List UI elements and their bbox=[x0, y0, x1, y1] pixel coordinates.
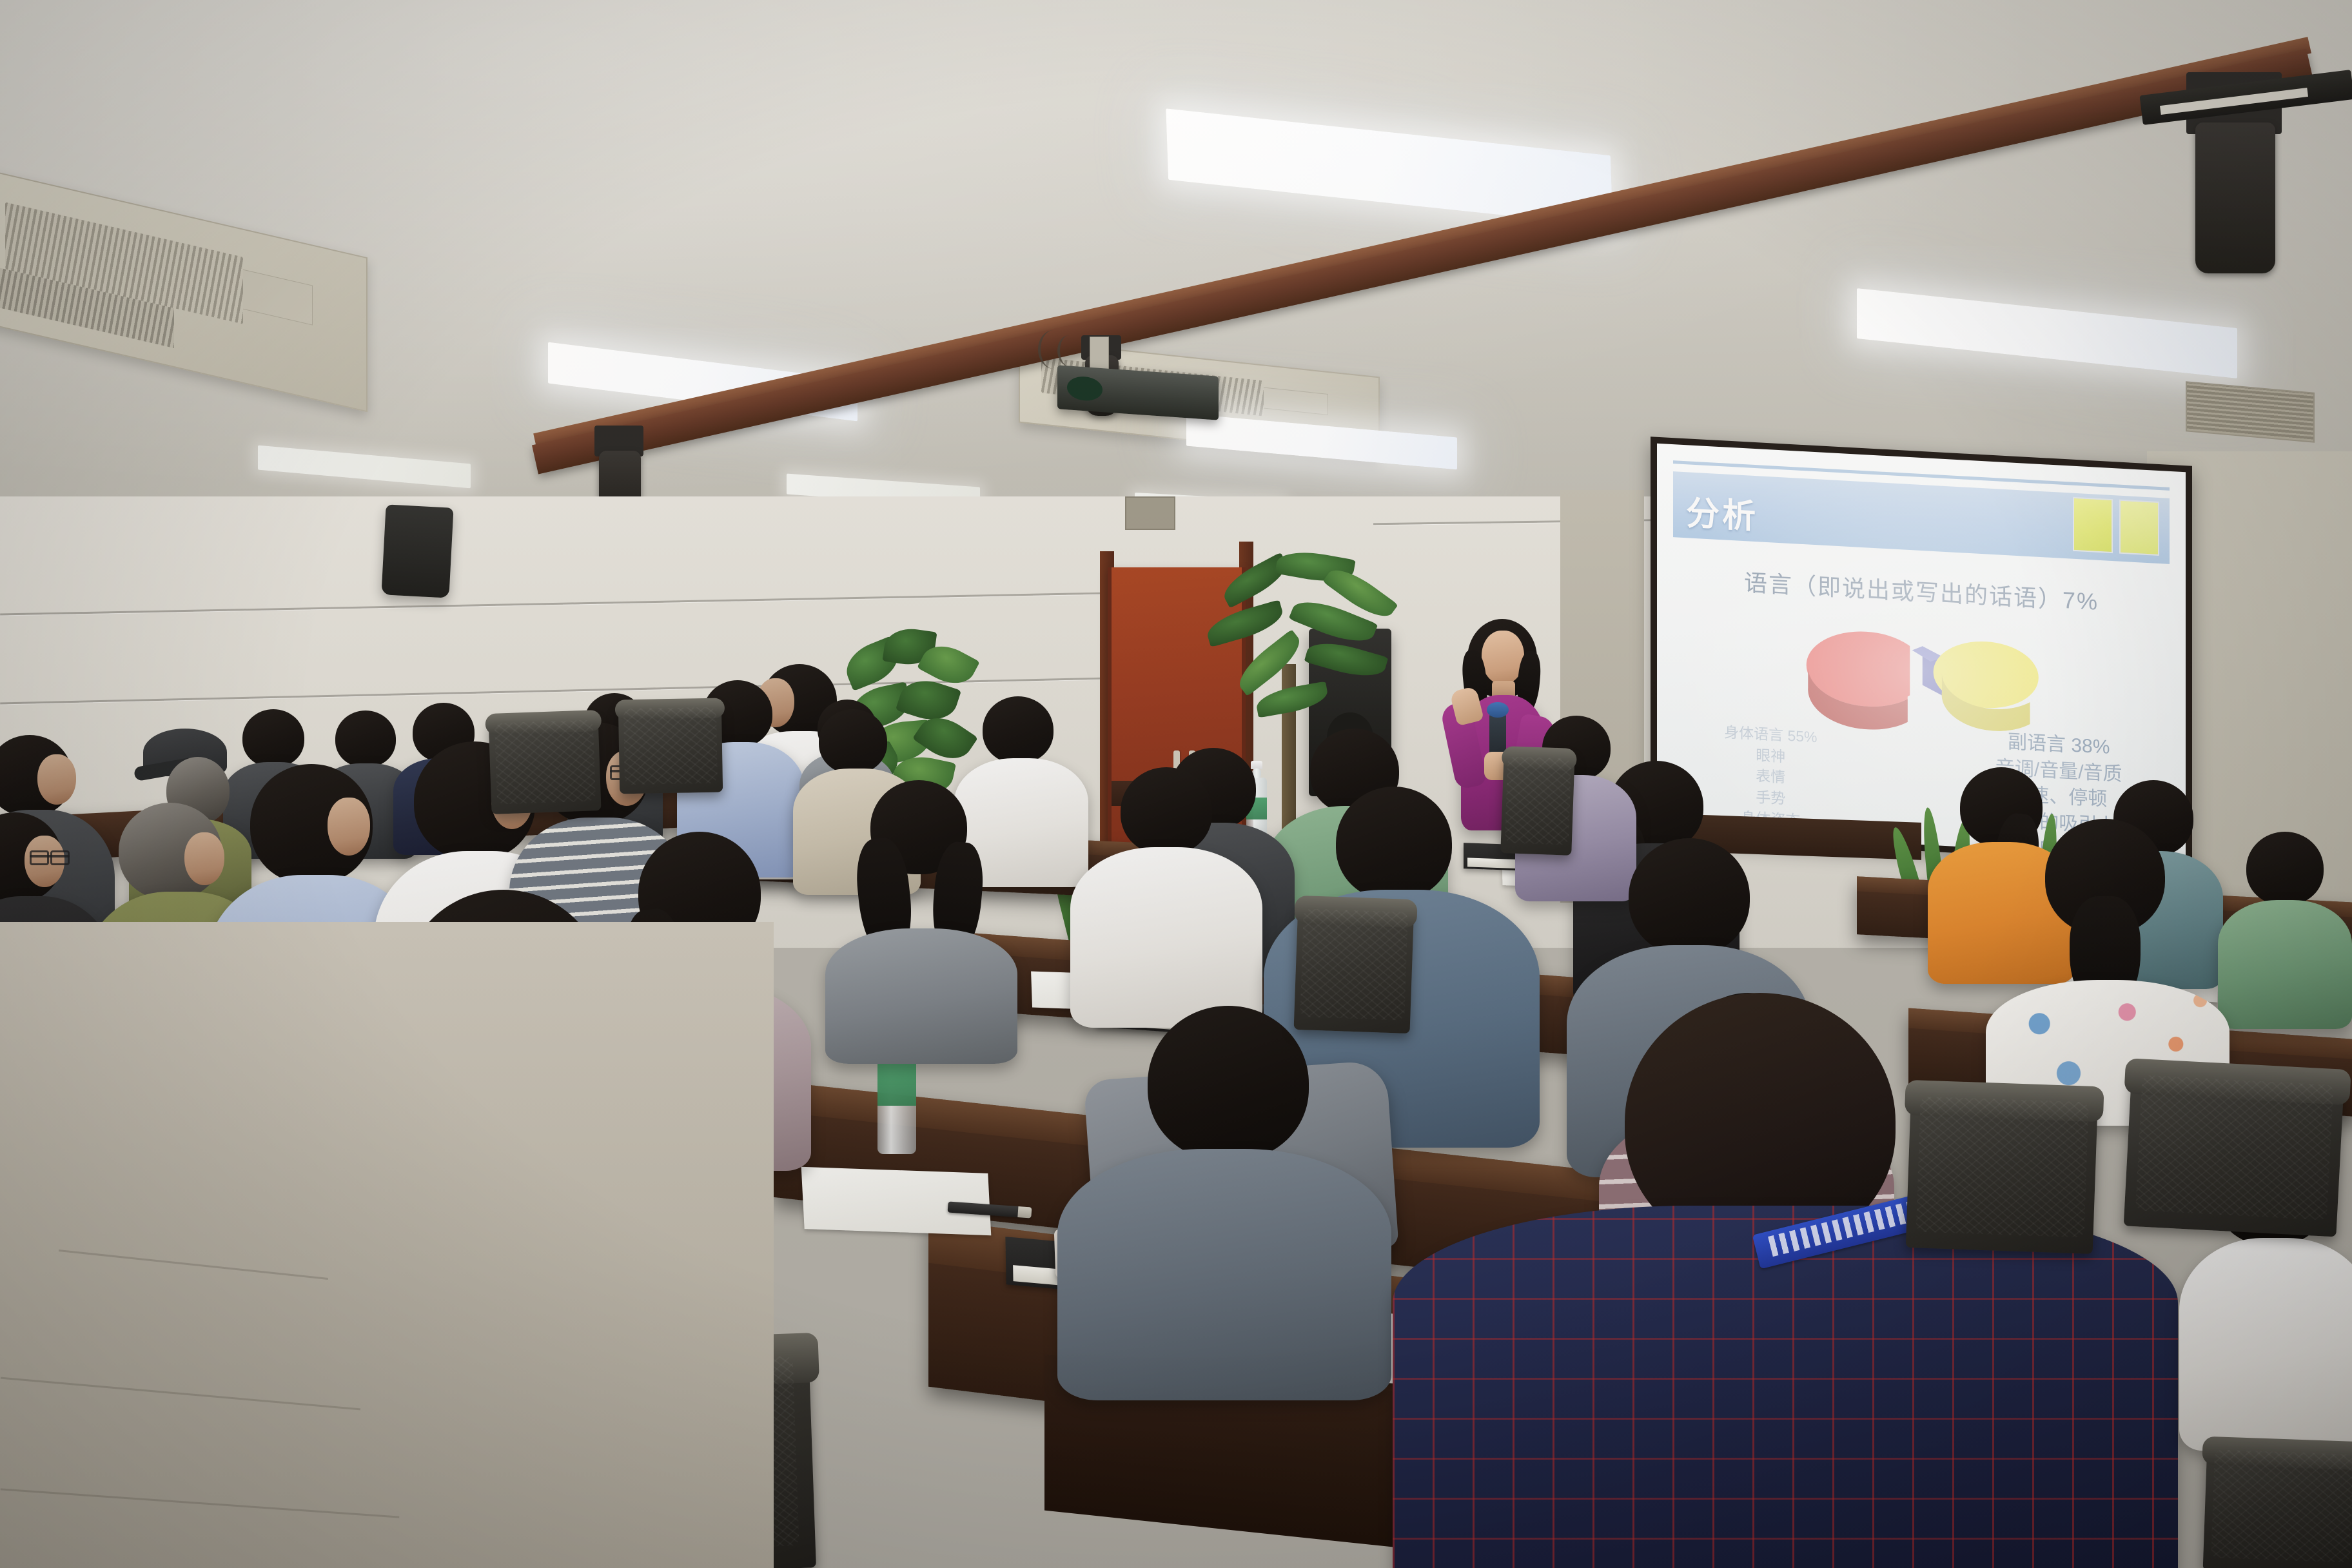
audience-front-navy bbox=[1057, 1006, 1393, 1393]
slide-thumbnail-1 bbox=[2073, 497, 2113, 553]
chair-right-3[interactable] bbox=[2124, 1065, 2345, 1237]
glasses-icon bbox=[30, 855, 70, 857]
meeting-room-photo: 分析 语言（即说出或写出的话语）7% bbox=[0, 0, 2352, 1568]
chair-right-2[interactable] bbox=[1906, 1086, 2099, 1254]
audience-foreground-plaid bbox=[1393, 993, 2179, 1568]
chair-mid-left-2[interactable] bbox=[618, 702, 723, 794]
chair-right-1[interactable] bbox=[1294, 901, 1415, 1034]
audience-long-hair-grey bbox=[825, 780, 1019, 1051]
floor bbox=[0, 922, 774, 1568]
chair-presenter-side[interactable] bbox=[1500, 750, 1575, 856]
slide-thumbnail-2 bbox=[2119, 500, 2159, 556]
slide-thumbnail-group bbox=[2073, 497, 2159, 556]
audience-white-tee bbox=[1070, 767, 1264, 1025]
slide-title: 分析 bbox=[1686, 485, 1758, 538]
chair-right-4[interactable] bbox=[2203, 1442, 2352, 1568]
audience-far-right-green bbox=[2218, 832, 2352, 1025]
wall-vent-small bbox=[1125, 496, 1175, 530]
paper-front-left[interactable] bbox=[801, 1167, 992, 1235]
chair-mid-left[interactable] bbox=[488, 714, 601, 814]
projector-cable-2 bbox=[1057, 335, 1081, 366]
microphone-head bbox=[1487, 702, 1508, 718]
wall-speaker-left bbox=[381, 504, 453, 598]
